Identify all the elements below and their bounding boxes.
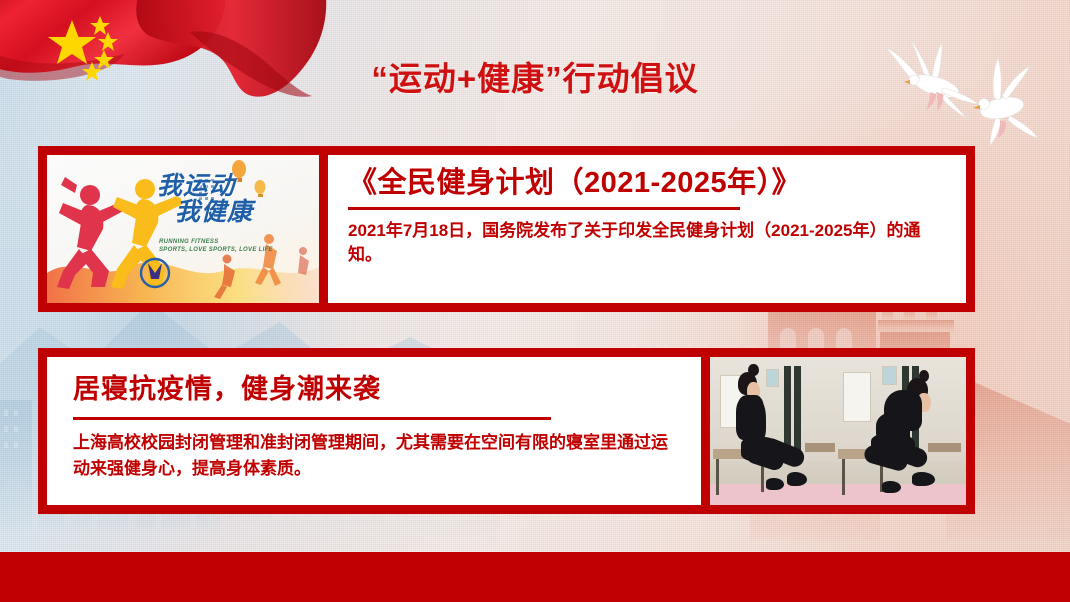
exercise-photo-left [710,357,838,505]
card-2-text-panel: 居寝抗疫情，健身潮来袭 上海高校校园封闭管理和准封闭管理期间，尤其需要在空间有限… [47,357,701,505]
card-1-body: 2021年7月18日，国务院发布了关于印发全民健身计划（2021-2025年）的… [348,219,946,267]
card-1-text-panel: 《全民健身计划（2021-2025年）》 2021年7月18日，国务院发布了关于… [328,155,966,303]
card-2-headline: 居寝抗疫情，健身潮来袭 [73,375,681,405]
fitness-poster-image: 我运动 我健康 RUNNING FITNESS SPORTS, LOVE SPO… [47,155,319,303]
poster-headline: 我运动 我健康 [157,173,253,226]
card-dorm-fitness: 居寝抗疫情，健身潮来袭 上海高校校园封闭管理和准封闭管理期间，尤其需要在空间有限… [38,348,975,514]
card-1-divider [348,207,740,210]
slide-canvas: “运动+健康”行动倡议 [0,0,1070,602]
exercise-photo-right [838,357,966,505]
card-national-fitness-plan: 我运动 我健康 RUNNING FITNESS SPORTS, LOVE SPO… [38,146,975,312]
bottom-accent-bar [0,552,1070,602]
card-2-divider [73,417,551,420]
page-title: “运动+健康”行动倡议 [0,52,1070,100]
card-1-headline: 《全民健身计划（2021-2025年）》 [348,167,946,200]
poster-subtext: RUNNING FITNESS SPORTS, LOVE SPORTS, LOV… [159,239,273,254]
dorm-exercise-photos [710,357,966,505]
card-2-body: 上海高校校园封闭管理和准封闭管理期间，尤其需要在空间有限的寝室里通过运动来强健身… [73,430,681,483]
